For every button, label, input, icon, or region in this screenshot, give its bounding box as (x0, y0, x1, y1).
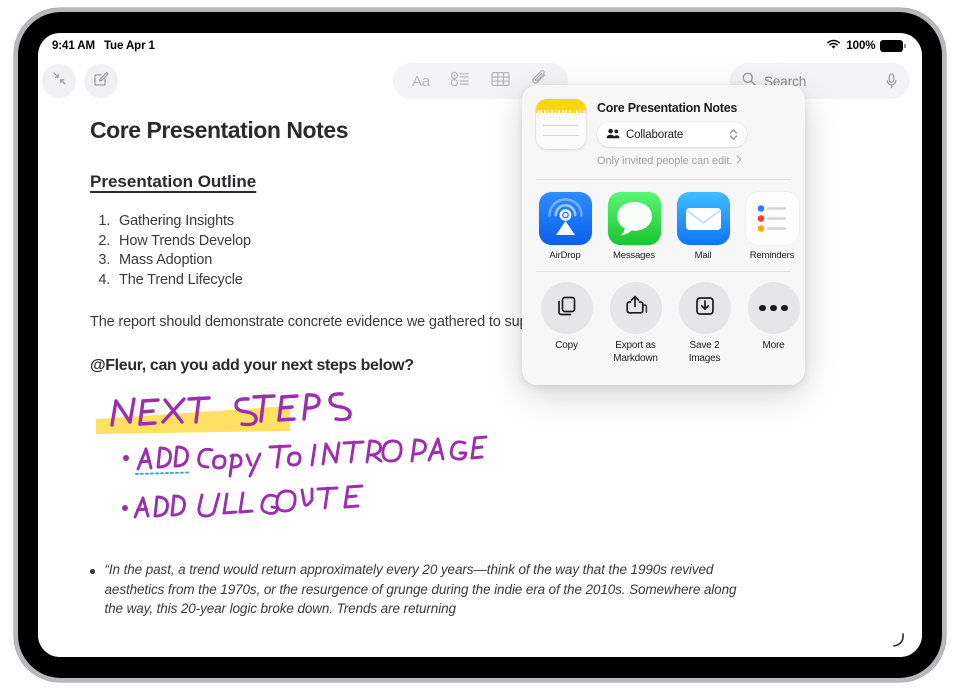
share-sheet-popover[interactable]: Core Presentation Notes Collaborate (522, 85, 805, 385)
share-target-reminders[interactable]: Reminders (745, 192, 799, 261)
app-label: Reminders (745, 250, 799, 261)
action-save-images[interactable]: Save 2 Images (676, 282, 733, 365)
microphone-icon[interactable] (885, 73, 898, 89)
action-label: Save 2 Images (676, 340, 733, 365)
compose-button[interactable] (84, 64, 118, 98)
share-sheet-title: Core Presentation Notes (597, 101, 791, 115)
action-copy[interactable]: Copy (538, 282, 595, 365)
permission-row[interactable]: Only invited people can edit. (597, 155, 791, 167)
handwriting-annotation (90, 377, 490, 527)
action-more[interactable]: More (745, 282, 802, 365)
wifi-icon (826, 39, 841, 53)
checklist-button[interactable] (444, 66, 478, 96)
share-sheet-header: Core Presentation Notes Collaborate (522, 85, 805, 177)
share-target-messages[interactable]: Messages (607, 192, 661, 261)
device-screen: 9:41 AM Tue Apr 1 100% (38, 33, 922, 657)
ellipsis-icon (759, 305, 788, 312)
status-bar: 9:41 AM Tue Apr 1 100% (38, 33, 922, 59)
status-bar-right: 100% (826, 39, 906, 53)
app-label: Messages (607, 250, 661, 261)
bullet-dot-icon (90, 569, 95, 574)
handwritten-bullet-2 (135, 486, 362, 517)
download-icon (693, 294, 717, 323)
reminders-icon (746, 192, 799, 245)
status-date: Tue Apr 1 (104, 40, 155, 52)
collapse-arrows-icon (51, 70, 68, 92)
screenshot-root: 9:41 AM Tue Apr 1 100% (0, 0, 960, 690)
quote-list-item: “In the past, a trend would return appro… (90, 560, 750, 619)
handwritten-bullet-dot (123, 455, 129, 461)
airdrop-icon (539, 192, 592, 245)
battery-percent-label: 100% (846, 40, 875, 52)
copy-icon (555, 294, 579, 323)
action-export-markdown[interactable]: Export as Markdown (607, 282, 664, 365)
table-button[interactable] (483, 66, 517, 96)
status-bar-left: 9:41 AM Tue Apr 1 (52, 40, 155, 52)
battery-full-icon (880, 40, 906, 52)
share-target-mail[interactable]: Mail (676, 192, 730, 261)
handwritten-bullet-dot (122, 505, 128, 511)
compose-icon (92, 70, 110, 93)
spellcheck-underline (136, 473, 188, 475)
export-icon (624, 294, 648, 323)
permission-text: Only invited people can edit. (597, 155, 732, 167)
mail-icon (677, 192, 730, 245)
checklist-icon (451, 71, 470, 92)
collaborate-label: Collaborate (626, 129, 683, 141)
app-label: AirDrop (538, 250, 592, 261)
chevron-right-icon (736, 155, 742, 167)
app-label: Mail (676, 250, 730, 261)
table-icon (491, 71, 510, 92)
page-curl-indicator (890, 633, 906, 649)
collapse-button[interactable] (42, 64, 76, 98)
share-actions-row: Copy Export as Markdown (522, 271, 805, 365)
action-label: Export as Markdown (607, 340, 664, 365)
notes-app-icon (536, 99, 586, 149)
quote-text: “In the past, a trend would return appro… (105, 560, 751, 619)
format-aa-icon: Aa (412, 73, 430, 90)
collaborate-dropdown[interactable]: Collaborate (597, 122, 747, 147)
handwritten-bullet-1 (138, 437, 486, 476)
note-heading: Presentation Outline (90, 172, 256, 192)
share-apps-row: AirDrop Messages (522, 180, 805, 269)
format-aa-button[interactable]: Aa (404, 66, 438, 96)
messages-icon (608, 192, 661, 245)
share-target-airdrop[interactable]: AirDrop (538, 192, 592, 261)
people-icon (606, 126, 620, 144)
chevron-up-down-icon (729, 128, 738, 141)
status-time: 9:41 AM (52, 40, 95, 52)
action-label: Copy (538, 340, 595, 353)
action-label: More (745, 340, 802, 353)
